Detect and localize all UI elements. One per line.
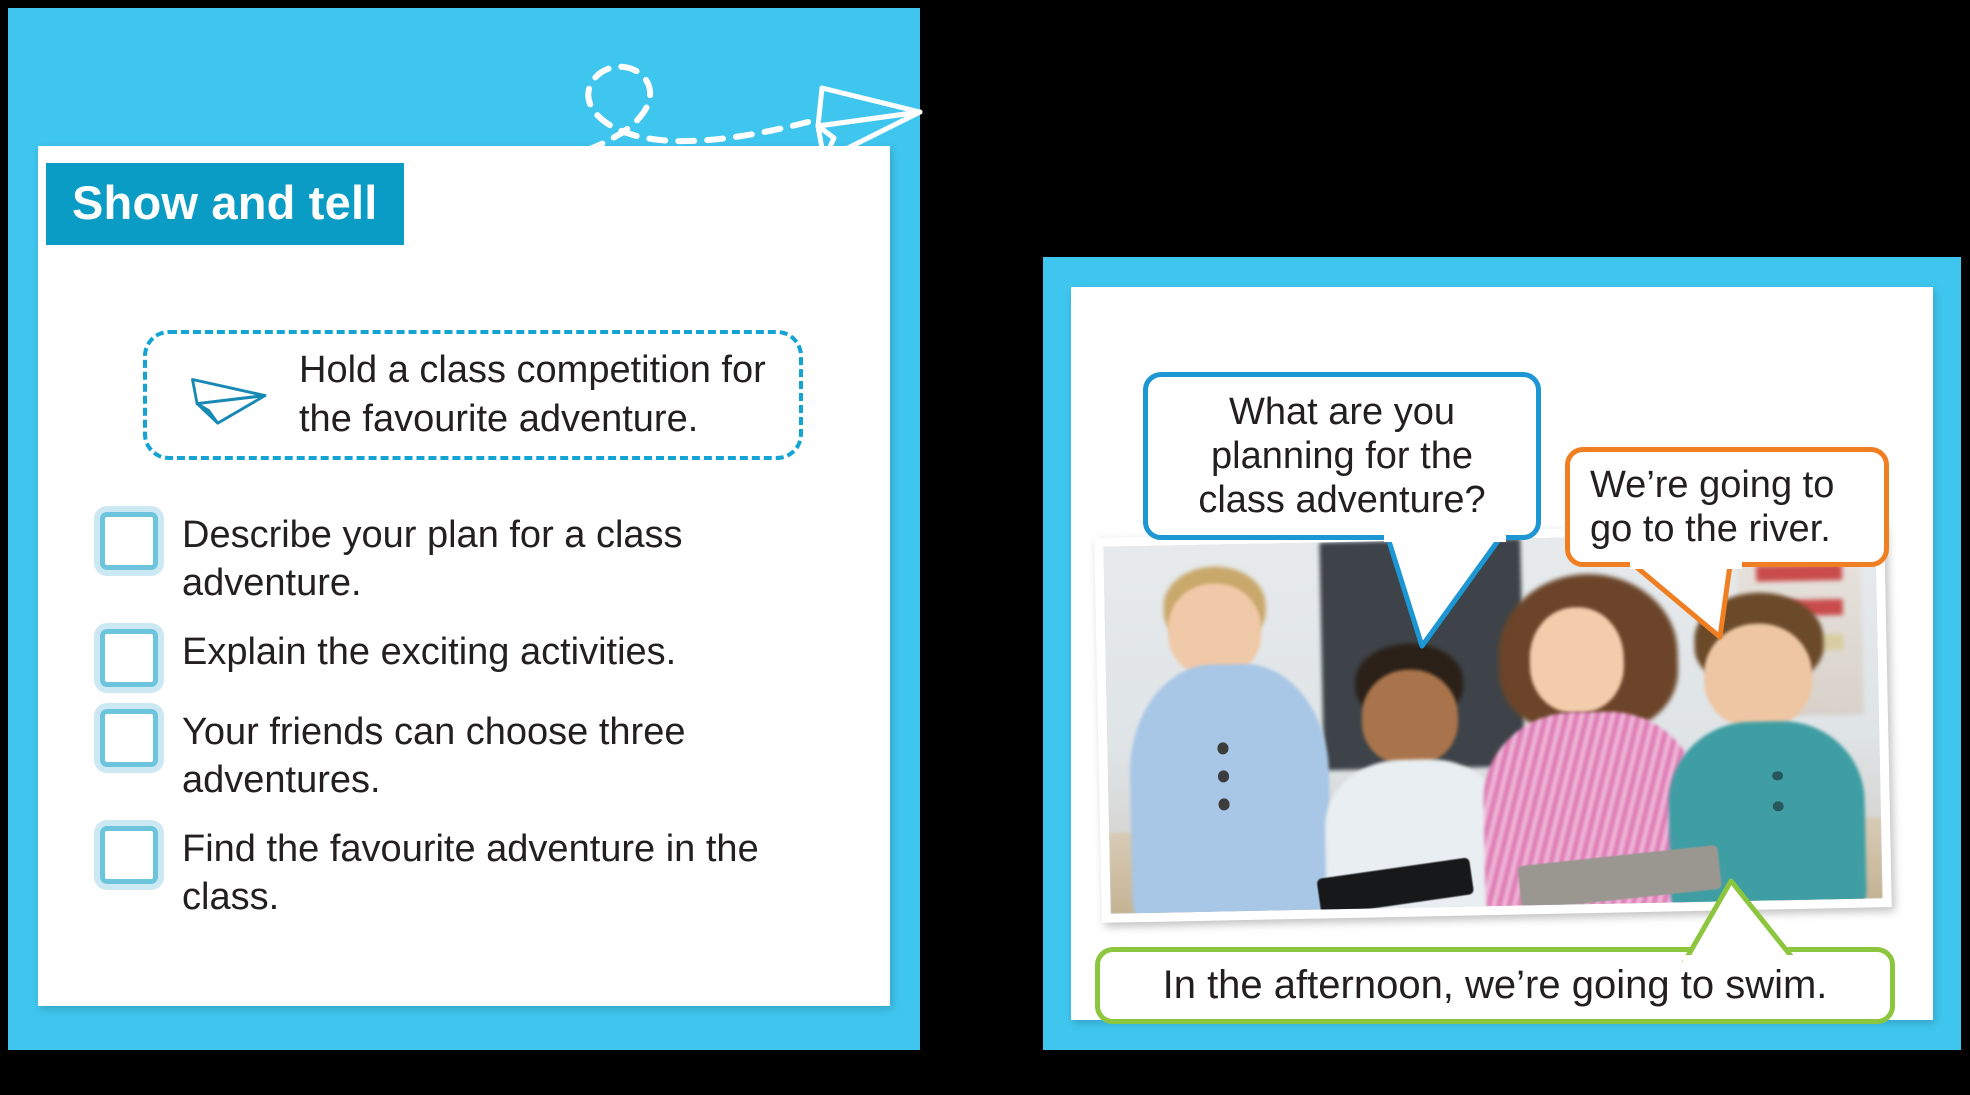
speech-bubble-question-text: What are you planning for the class adve… (1148, 384, 1536, 528)
speech-bubble-question: What are you planning for the class adve… (1143, 372, 1541, 540)
checklist-item-label: Describe your plan for a class adventure… (182, 508, 840, 607)
speech-tail-answer (1620, 561, 1750, 651)
list-item[interactable]: Find the favourite adventure in the clas… (100, 822, 840, 921)
checklist: Describe your plan for a class adventure… (100, 508, 840, 939)
checkbox-4[interactable] (100, 826, 158, 884)
checklist-item-label: Your friends can choose three adventures… (182, 705, 840, 804)
checkbox-2[interactable] (100, 629, 158, 687)
checklist-item-label: Explain the exciting activities. (182, 625, 676, 677)
speech-bubble-answer: We’re going to go to the river. (1565, 447, 1889, 567)
speech-tail-statement (1675, 875, 1805, 970)
list-item[interactable]: Describe your plan for a class adventure… (100, 508, 840, 607)
list-item[interactable]: Your friends can choose three adventures… (100, 705, 840, 804)
checklist-item-label: Find the favourite adventure in the clas… (182, 822, 840, 921)
instruction-callout: Hold a class competition for the favouri… (143, 330, 803, 460)
checkbox-3[interactable] (100, 709, 158, 767)
list-item[interactable]: Explain the exciting activities. (100, 625, 840, 687)
speech-tail-question (1380, 534, 1510, 654)
instruction-text: Hold a class competition for the favouri… (299, 346, 799, 443)
left-panel: Show and tell Hold a class competition f… (8, 8, 920, 1050)
page-title-label: Show and tell (72, 179, 378, 226)
paper-plane-icon (181, 359, 273, 431)
page-title: Show and tell (46, 163, 404, 245)
speech-bubble-answer-text: We’re going to go to the river. (1570, 457, 1884, 557)
checkbox-1[interactable] (100, 512, 158, 570)
